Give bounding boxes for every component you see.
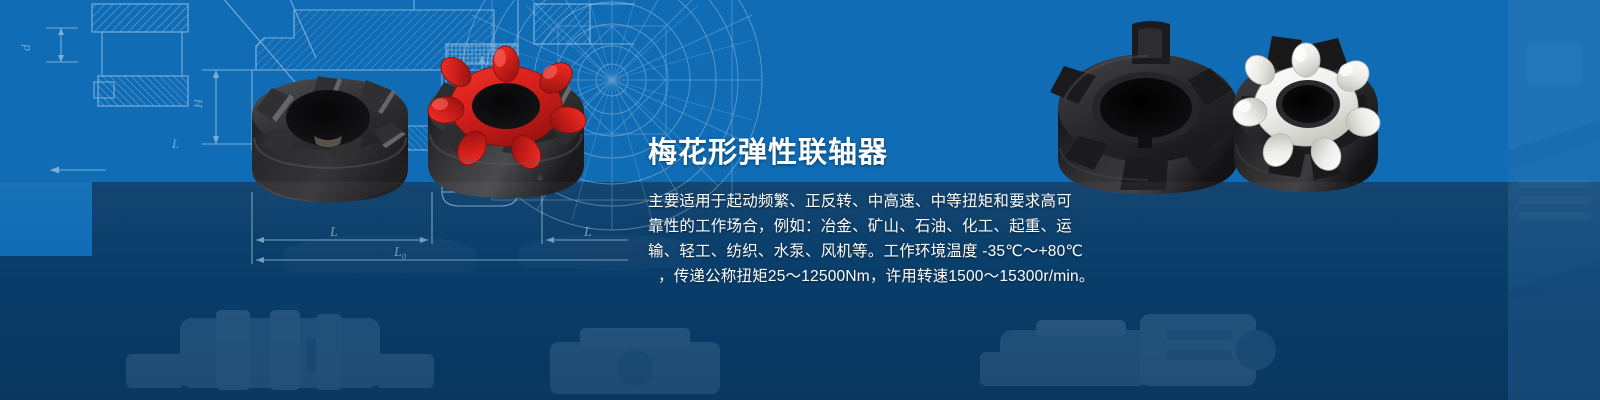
description-line-4: ，传递公称扭矩25～12500Nm，许用转速1500～15300r/min。 — [648, 264, 1068, 289]
blueprint-label-d: d — [18, 44, 33, 51]
coupling-hub-right-with-white-spider — [1231, 36, 1382, 192]
description-line-3: 输、轻工、纺织、水泵、风机等。工作环境温度 -35℃～+80℃ — [648, 239, 1068, 264]
blueprint-label-L: L — [171, 136, 179, 151]
banner-text-block: 梅花形弹性联轴器 主要适用于起动频繁、正反转、中高速、中等扭矩和要求高可 靠性的… — [648, 136, 1068, 289]
product-photo-left — [232, 18, 612, 230]
banner-description: 主要适用于起动频繁、正反转、中高速、中等扭矩和要求高可 靠性的工作场合，例如：冶… — [648, 171, 1068, 289]
banner-title: 梅花形弹性联轴器 — [648, 136, 1068, 171]
blueprint-label-H: H — [191, 98, 205, 109]
product-photo-right — [1020, 8, 1382, 214]
ghost-machinery-block — [540, 322, 730, 396]
ghost-machinery-motor — [980, 300, 1280, 398]
right-edge-photo-strip — [1508, 0, 1600, 400]
coupling-hub-front-left — [1050, 21, 1238, 194]
coupling-hub-right-with-red-spider — [427, 45, 588, 198]
product-banner: L L L₀ L D d H — [0, 0, 1600, 400]
ghost-machinery-roller — [120, 300, 440, 396]
description-line-2: 靠性的工作场合，例如：冶金、矿山、石油、化工、起重、运 — [648, 214, 1068, 239]
coupling-hub-left — [252, 76, 408, 202]
description-line-1: 主要适用于起动频繁、正反转、中高速、中等扭矩和要求高可 — [648, 189, 1068, 214]
